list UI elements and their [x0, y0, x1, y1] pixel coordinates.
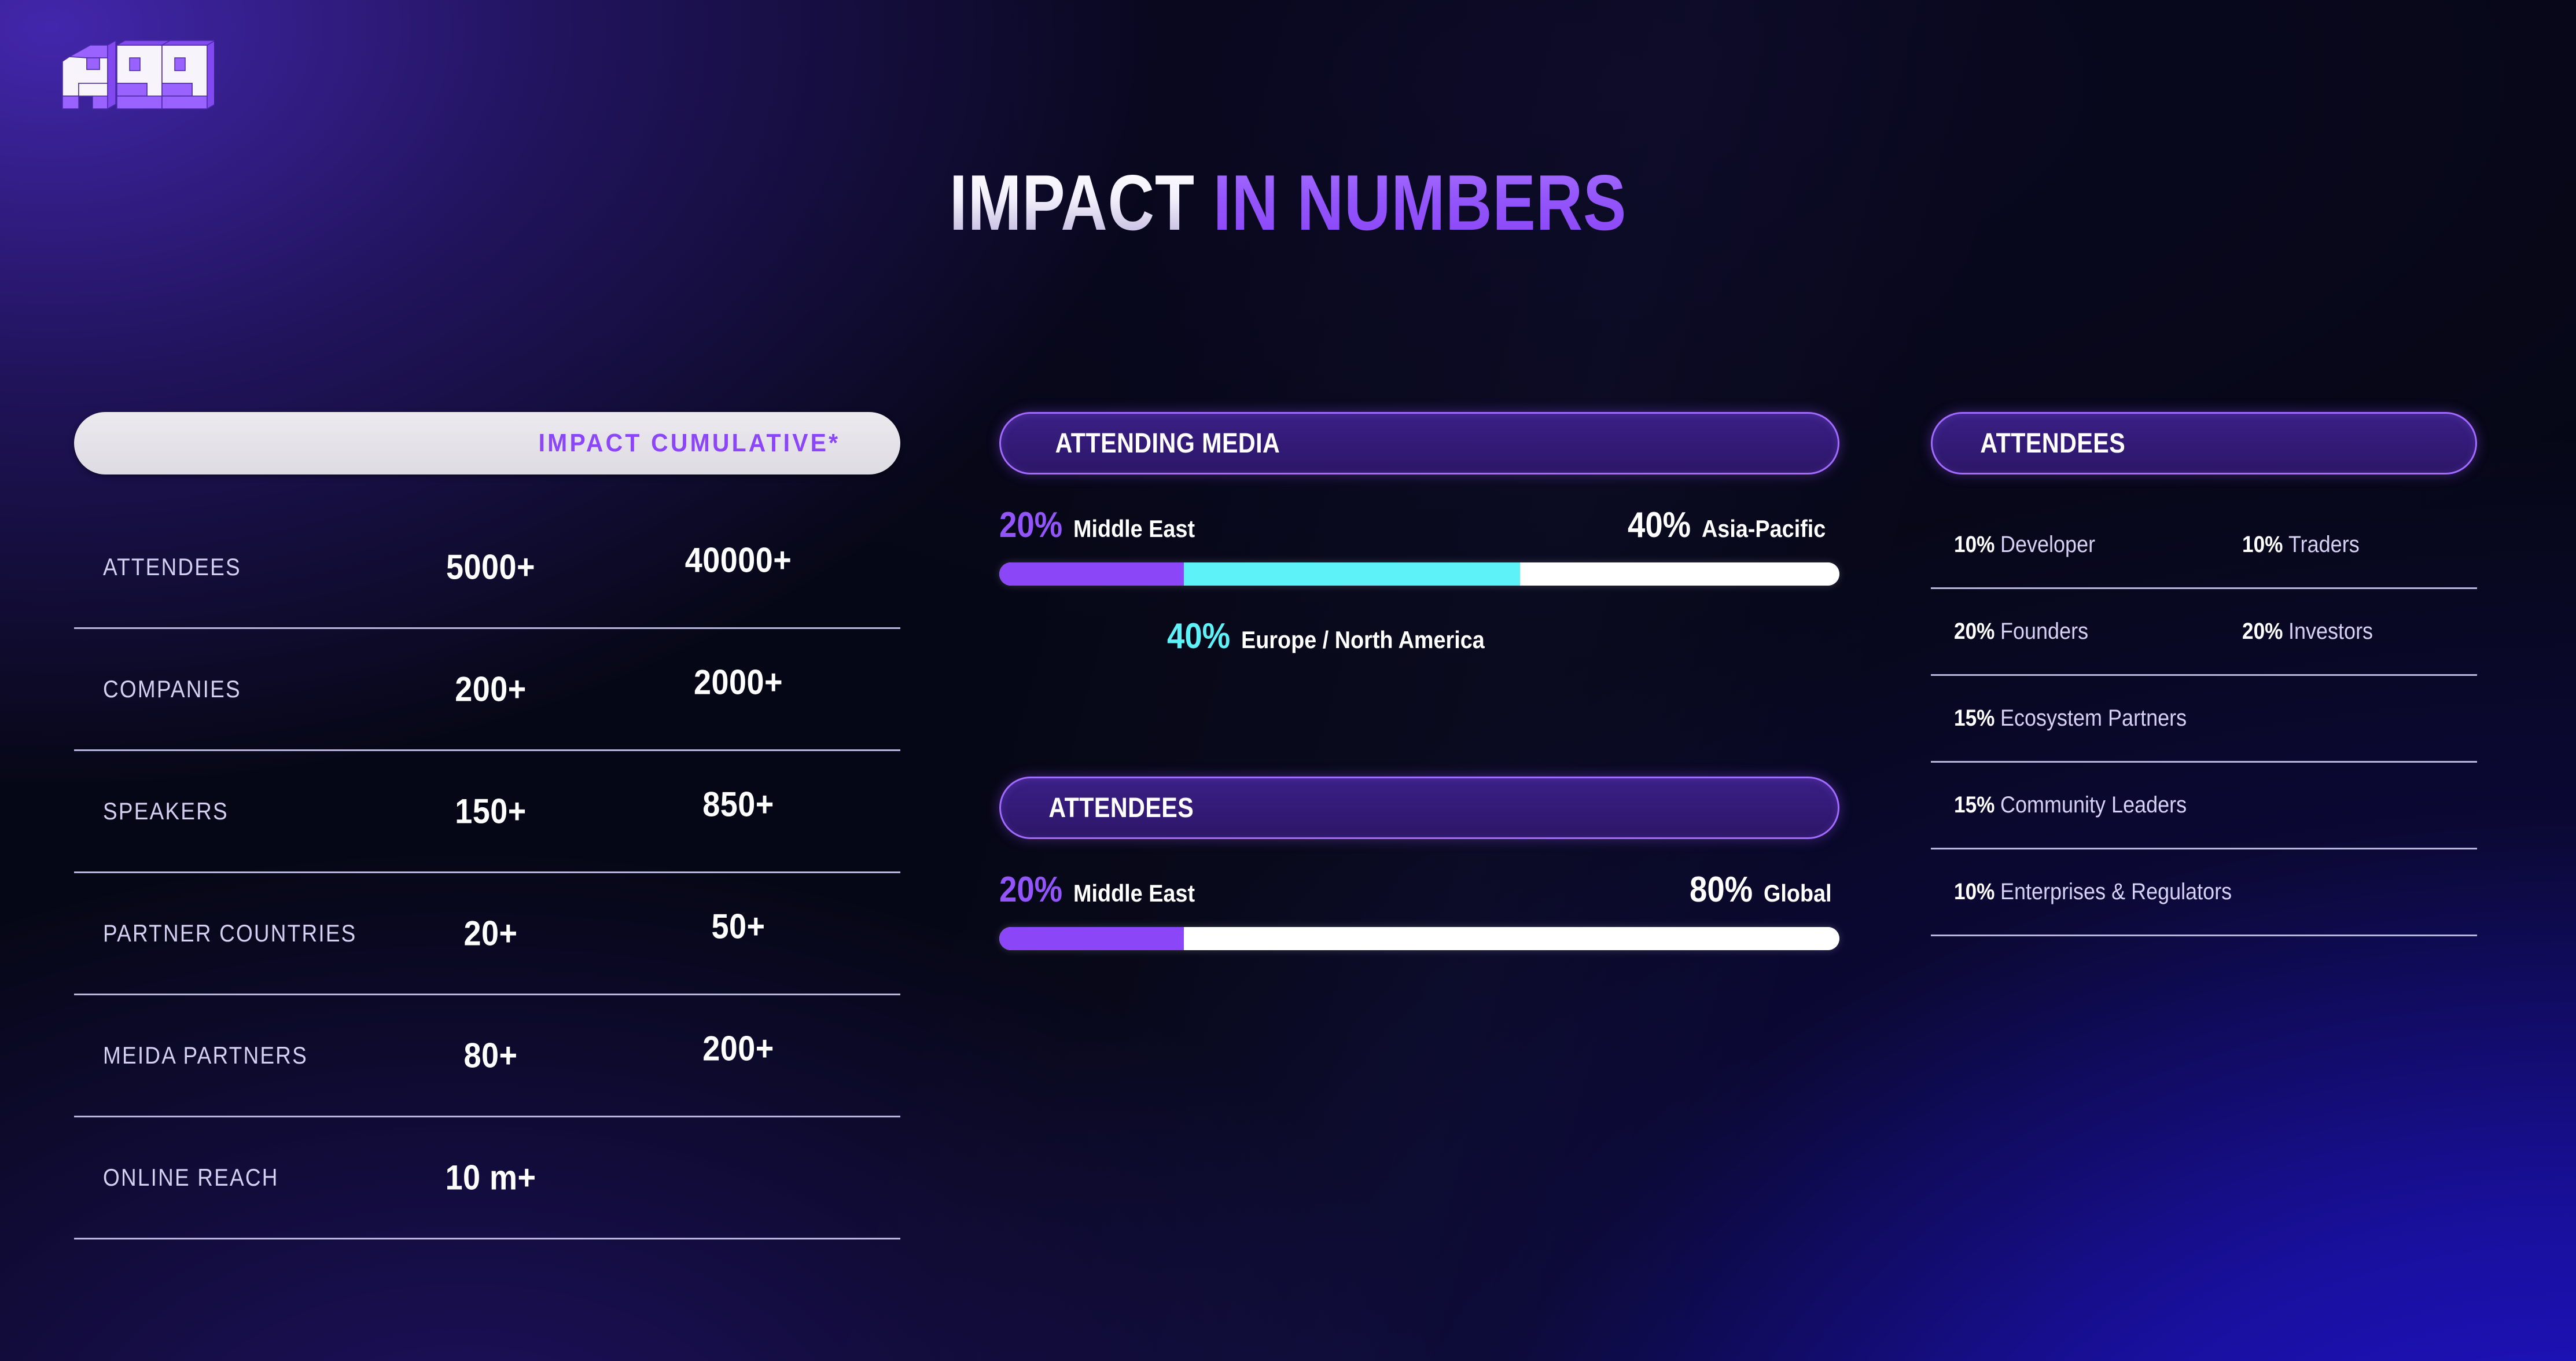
segment-percent: 20%: [2242, 619, 2283, 645]
list-item: 15% Ecosystem Partners: [1931, 676, 2477, 763]
row-value-edition: 10 m+: [446, 1158, 536, 1198]
row-value-edition: 80+: [464, 1036, 518, 1076]
attending-media-header-label: ATTENDING MEDIA: [1055, 428, 1280, 459]
impact-cumulative-header: IMPACT CUMULATIVE*: [74, 412, 900, 474]
table-row: SPEAKERS 150+ 850+: [74, 751, 900, 873]
page-title: IMPACT IN NUMBERS: [232, 163, 2345, 242]
stat-percent: 20%: [999, 505, 1062, 546]
row-value-cumulative: 200+: [702, 1029, 774, 1069]
stat-europe-north-america: 40% Europe / North America: [1167, 616, 1512, 657]
list-item: 10% Developer 10% Traders: [1931, 502, 2477, 589]
segment-founders: 20% Founders: [1954, 619, 2098, 645]
segment-label: Developer: [2000, 532, 2095, 558]
stat-label: Asia-Pacific: [1702, 515, 1826, 543]
segment-label: Founders: [2000, 619, 2088, 645]
attendees-geo-block: ATTENDEES 20% Middle East 80% Global: [999, 777, 1839, 950]
attendees-segment-header: ATTENDEES: [1931, 412, 2477, 474]
page-title-part2: IN NUMBERS: [1213, 159, 1627, 247]
segment-ecosystem-partners: 15% Ecosystem Partners: [1954, 705, 2207, 731]
row-value-cumulative: 850+: [702, 785, 774, 825]
attendees-geo-header: ATTENDEES: [999, 777, 1839, 839]
bar-segment-middle-east: [999, 927, 1184, 950]
stat-percent: 40%: [1167, 616, 1230, 657]
attending-media-stats-top: 20% Middle East 40% Asia-Pacific: [999, 505, 1839, 551]
segment-percent: 20%: [1954, 619, 1994, 645]
stat-percent: 40%: [1628, 505, 1691, 546]
segment-label: Community Leaders: [2000, 792, 2187, 818]
row-label: PARTNER COUNTRIES: [103, 919, 357, 947]
list-item: 15% Community Leaders: [1931, 763, 2477, 849]
row-label: ONLINE REACH: [103, 1164, 279, 1191]
stat-label: Middle East: [1073, 880, 1195, 907]
stat-percent: 80%: [1690, 869, 1753, 910]
segment-percent: 10%: [1954, 532, 1994, 558]
segment-percent: 15%: [1954, 792, 1994, 818]
stat-label: Europe / North America: [1241, 626, 1485, 654]
row-label: SPEAKERS: [103, 797, 229, 825]
attendees-segment-panel: ATTENDEES 10% Developer 10% Traders 20% …: [1931, 412, 2477, 936]
media-attendees-panel: ATTENDING MEDIA 20% Middle East 40% Asia…: [999, 412, 1839, 950]
row-value-edition: 5000+: [446, 547, 535, 587]
list-item: 10% Enterprises & Regulators: [1931, 849, 2477, 936]
bar-segment-middle-east: [999, 562, 1184, 586]
table-row: MEIDA PARTNERS 80+ 200+: [74, 995, 900, 1117]
bar-segment-asia-pacific: [1184, 562, 1520, 586]
row-value-edition: 20+: [464, 914, 518, 954]
attending-media-stats-bottom: 40% Europe / North America: [999, 616, 1839, 662]
impact-cumulative-header-label: IMPACT CUMULATIVE*: [539, 429, 841, 458]
attendees-geo-header-label: ATTENDEES: [1048, 792, 1194, 824]
logo-499-icon: .f-white{fill:#f7f5fb;stroke:#4a2aa8;str…: [52, 36, 214, 114]
attendees-geo-stats: 20% Middle East 80% Global: [999, 869, 1839, 915]
segment-percent: 10%: [1954, 879, 1994, 905]
segment-label: Enterprises & Regulators: [2000, 879, 2232, 905]
attendees-geo-progress-bar: [999, 927, 1839, 950]
segment-percent: 15%: [1954, 705, 1994, 731]
table-row: COMPANIES 200+ 2000+: [74, 629, 900, 751]
segment-investors: 20% Investors: [2242, 619, 2382, 645]
impact-cumulative-table: ATTENDEES 5000+ 40000+ COMPANIES 200+ 20…: [74, 507, 900, 1239]
segment-label: Ecosystem Partners: [2000, 705, 2187, 731]
stat-label: Global: [1764, 880, 1832, 907]
segment-traders: 10% Traders: [2242, 532, 2367, 558]
attendees-segment-list: 10% Developer 10% Traders 20% Founders 2…: [1931, 502, 2477, 936]
bar-segment-global: [1184, 927, 1839, 950]
segment-label: Traders: [2288, 532, 2360, 558]
stat-global: 80% Global: [1690, 869, 1839, 910]
attending-media-progress-bar: [999, 562, 1839, 586]
stat-percent: 20%: [999, 869, 1062, 910]
row-value-cumulative: 2000+: [694, 663, 783, 702]
row-value-cumulative: 50+: [712, 907, 766, 947]
page-title-part1: IMPACT: [950, 159, 1195, 247]
brand-logo-499[interactable]: .f-white{fill:#f7f5fb;stroke:#4a2aa8;str…: [52, 36, 214, 114]
list-item: 20% Founders 20% Investors: [1931, 589, 2477, 676]
stat-asia-pacific: 40% Asia-Pacific: [1628, 505, 1839, 546]
stat-middle-east: 20% Middle East: [999, 869, 1208, 910]
attendees-segment-header-label: ATTENDEES: [1980, 428, 2125, 459]
segment-community-leaders: 15% Community Leaders: [1954, 792, 2207, 818]
row-value-edition: 150+: [455, 792, 526, 832]
row-label: ATTENDEES: [103, 553, 241, 581]
table-row: ATTENDEES 5000+ 40000+: [74, 507, 900, 629]
row-label: MEIDA PARTNERS: [103, 1042, 308, 1069]
table-row: ONLINE REACH 10 m+: [74, 1117, 900, 1239]
stat-middle-east: 20% Middle East: [999, 505, 1208, 546]
row-value-edition: 200+: [455, 670, 526, 709]
segment-label: Investors: [2288, 619, 2373, 645]
bar-segment-europe-north-america: [1520, 562, 1839, 586]
stat-label: Middle East: [1073, 515, 1195, 543]
table-row: PARTNER COUNTRIES 20+ 50+: [74, 873, 900, 995]
row-label: COMPANIES: [103, 675, 241, 703]
segment-percent: 10%: [2242, 532, 2283, 558]
attending-media-block: ATTENDING MEDIA 20% Middle East 40% Asia…: [999, 412, 1839, 662]
row-value-cumulative: 40000+: [685, 540, 792, 580]
attending-media-header: ATTENDING MEDIA: [999, 412, 1839, 474]
segment-developer: 10% Developer: [1954, 532, 2106, 558]
impact-cumulative-panel: IMPACT CUMULATIVE* ATTENDEES 5000+ 40000…: [74, 412, 900, 1239]
segment-enterprises-regulators: 10% Enterprises & Regulators: [1954, 879, 2258, 905]
